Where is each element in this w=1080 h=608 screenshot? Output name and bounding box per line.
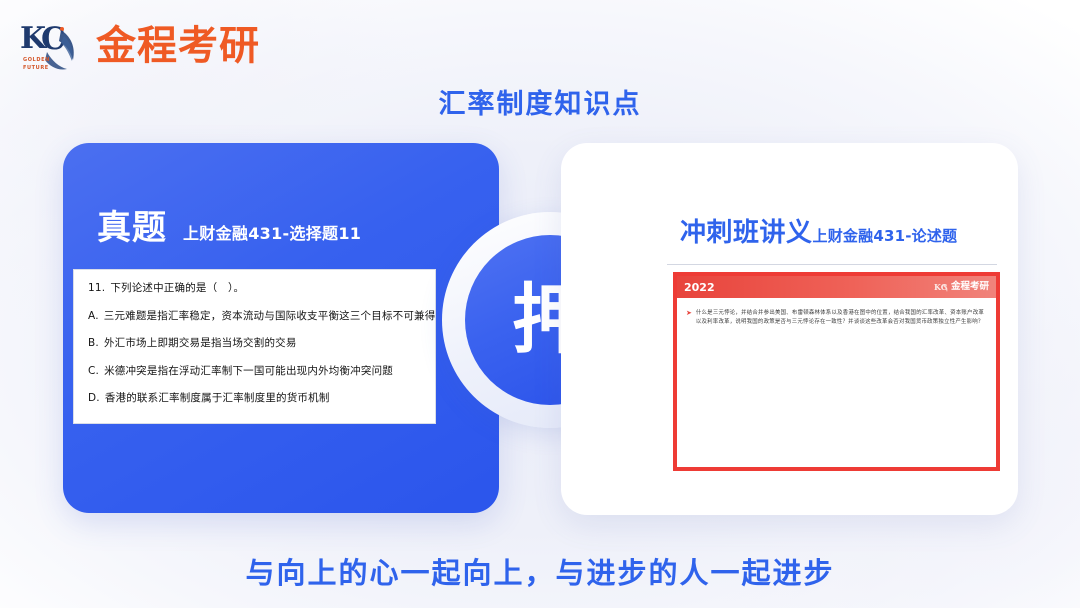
svg-text:GOLDEN: GOLDEN (23, 57, 50, 63)
handout-body: ➤ 什么是三元悖论，并结合并参出美国、布雷顿森林体系以及香港在图中的位置，结合我… (677, 298, 996, 327)
question-line: A.三元难题是指汇率稳定，资本流动与国际收支平衡这三个目标不可兼得 (88, 311, 423, 322)
question-line-text: 米德冲突是指在浮动汇率制下一国可能出现内外均衡冲突问题 (104, 365, 393, 377)
sprint-handout-card-header: 冲刺班讲义 上财金融431-论述题 (680, 220, 957, 246)
question-screenshot-box: 11.下列论述中正确的是（ ）。 A.三元难题是指汇率稳定，资本流动与国际收支平… (73, 269, 436, 424)
handout-screenshot-box: 2022 KC 金程考研 ➤ 什么是三元悖论，并结合并参出美国、布雷顿森林体系以… (673, 272, 1000, 471)
question-line-text: 下列论述中正确的是（ ）。 (110, 282, 244, 294)
question-line: D.香港的联系汇率制度属于汇率制度里的货币机制 (88, 393, 423, 404)
question-line: B.外汇市场上即期交易是指当场交割的交易 (88, 338, 423, 349)
kc-swan-logo-icon: KC (934, 281, 949, 293)
question-line: C.米德冲突是指在浮动汇率制下一国可能出现内外均衡冲突问题 (88, 366, 423, 377)
sprint-handout-card: 冲刺班讲义 上财金融431-论述题 2022 KC 金程考研 ➤ 什么是三元悖论… (561, 143, 1018, 515)
handout-brand-name: 金程考研 (951, 282, 989, 292)
divider (667, 264, 997, 265)
question-line-label: C. (88, 365, 99, 377)
question-line-text: 香港的联系汇率制度属于汇率制度里的货币机制 (105, 392, 330, 404)
handout-header-bar: 2022 KC 金程考研 (677, 276, 996, 298)
real-exam-subheading: 上财金融431-选择题11 (183, 226, 361, 242)
arrow-bullet-icon: ➤ (686, 309, 692, 327)
brand-logo: K C GOLDEN FUTURE 金程考研 (14, 14, 260, 78)
question-line-label: 11. (88, 282, 105, 294)
question-line-text: 外汇市场上即期交易是指当场交割的交易 (104, 337, 297, 349)
real-exam-card: 真题 上财金融431-选择题11 11.下列论述中正确的是（ ）。 A.三元难题… (63, 143, 499, 513)
real-exam-card-header: 真题 上财金融431-选择题11 (97, 211, 361, 245)
handout-brand: KC 金程考研 (934, 281, 989, 293)
sprint-handout-heading: 冲刺班讲义 (680, 220, 813, 246)
question-line-label: D. (88, 392, 100, 404)
real-exam-heading: 真题 (97, 211, 167, 245)
question-line-label: A. (88, 310, 99, 322)
question-line-text: 三元难题是指汇率稳定，资本流动与国际收支平衡这三个目标不可兼得 (104, 310, 436, 322)
brand-name: 金程考研 (96, 26, 260, 66)
page-title: 汇率制度知识点 (0, 82, 1080, 121)
svg-text:FUTURE: FUTURE (23, 65, 49, 71)
question-line-label: B. (88, 337, 99, 349)
kc-swan-logo-icon: K C GOLDEN FUTURE (14, 16, 90, 76)
handout-text: 什么是三元悖论，并结合并参出美国、布雷顿森林体系以及香港在图中的位置，结合我国的… (696, 309, 984, 327)
sprint-handout-subheading: 上财金融431-论述题 (813, 229, 958, 244)
bottom-slogan: 与向上的心一起向上，与进步的人一起进步 (0, 550, 1080, 592)
question-line: 11.下列论述中正确的是（ ）。 (88, 283, 423, 294)
handout-year: 2022 (684, 282, 715, 293)
